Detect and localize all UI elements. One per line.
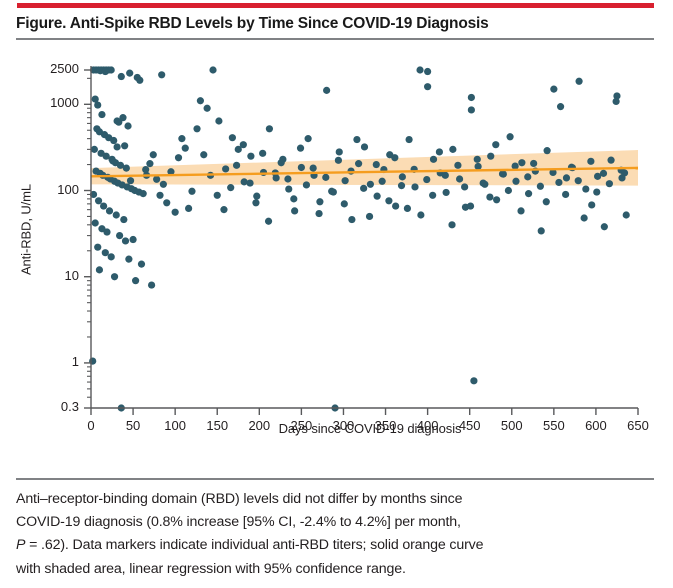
data-point	[454, 162, 461, 169]
data-point	[557, 103, 564, 110]
caption-line-4: with shaded area, linear regression with…	[16, 561, 406, 577]
data-point	[138, 261, 145, 268]
data-point	[123, 164, 130, 171]
data-point	[606, 180, 613, 187]
data-point	[109, 157, 116, 164]
data-point	[475, 163, 482, 170]
data-point	[100, 202, 107, 209]
data-point	[543, 198, 550, 205]
data-point	[430, 156, 437, 163]
data-point	[575, 177, 582, 184]
data-point	[140, 190, 147, 197]
data-point	[392, 202, 399, 209]
data-point	[246, 179, 253, 186]
data-point	[443, 189, 450, 196]
data-point	[467, 202, 474, 209]
data-point	[148, 281, 155, 288]
data-point	[517, 207, 524, 214]
data-point	[474, 156, 481, 163]
title-divider	[16, 38, 654, 40]
data-point	[499, 170, 506, 177]
data-point	[291, 207, 298, 214]
data-point	[468, 94, 475, 101]
data-point	[132, 277, 139, 284]
data-point	[150, 151, 157, 158]
data-point	[385, 197, 392, 204]
data-point	[623, 211, 630, 218]
data-point	[126, 70, 133, 77]
data-point	[91, 146, 98, 153]
data-point	[113, 211, 120, 218]
data-point	[122, 237, 129, 244]
data-point	[110, 137, 117, 144]
accent-rule	[17, 3, 654, 8]
data-point	[285, 185, 292, 192]
x-tick-label: 650	[613, 418, 663, 433]
y-tick-label: 1	[7, 354, 79, 369]
data-point	[456, 175, 463, 182]
data-point	[562, 191, 569, 198]
data-point	[322, 174, 329, 181]
data-point	[142, 166, 149, 173]
data-point	[98, 111, 105, 118]
data-point	[613, 98, 620, 105]
data-point	[411, 183, 418, 190]
data-point	[197, 97, 204, 104]
data-point	[593, 188, 600, 195]
data-point	[182, 145, 189, 152]
data-point	[259, 150, 266, 157]
data-point	[113, 143, 120, 150]
data-point	[406, 136, 413, 143]
data-point	[530, 160, 537, 167]
data-point	[160, 181, 167, 188]
data-point	[265, 218, 272, 225]
data-point	[200, 151, 207, 158]
y-tick-label: 1000	[7, 95, 79, 110]
y-tick-label: 2500	[7, 61, 79, 76]
y-tick-label: 100	[7, 182, 79, 197]
data-point	[298, 164, 305, 171]
data-point	[373, 161, 380, 168]
data-point	[227, 184, 234, 191]
caption-line-3: = .62). Data markers indicate individual…	[25, 537, 483, 553]
caption-p-value-italic: P	[16, 537, 25, 553]
data-point	[120, 216, 127, 223]
data-point	[492, 141, 499, 148]
data-point	[442, 172, 449, 179]
data-point	[290, 195, 297, 202]
data-point	[209, 66, 216, 73]
data-point	[399, 173, 406, 180]
data-point	[379, 178, 386, 185]
data-point	[156, 192, 163, 199]
data-point	[600, 170, 607, 177]
caption-line-2: COVID-19 diagnosis (0.8% increase [95% C…	[16, 514, 461, 530]
data-point	[220, 206, 227, 213]
data-point	[424, 68, 431, 75]
data-point	[94, 101, 101, 108]
data-point	[252, 199, 259, 206]
data-point	[328, 188, 335, 195]
data-point	[129, 236, 136, 243]
data-point	[178, 135, 185, 142]
data-point	[404, 205, 411, 212]
data-point	[461, 183, 468, 190]
data-point	[106, 207, 113, 214]
plot-svg	[0, 44, 673, 472]
data-point	[355, 160, 362, 167]
data-point	[436, 148, 443, 155]
data-point	[153, 176, 160, 183]
data-point	[316, 198, 323, 205]
data-point	[607, 157, 614, 164]
data-point	[336, 148, 343, 155]
data-point	[102, 249, 109, 256]
figure-title: Figure. Anti-Spike RBD Levels by Time Si…	[16, 15, 656, 33]
data-point	[588, 201, 595, 208]
data-point	[506, 133, 513, 140]
data-point	[487, 153, 494, 160]
data-point	[353, 136, 360, 143]
data-point	[108, 253, 115, 260]
figure-caption: Anti–receptor-binding domain (RBD) level…	[16, 488, 662, 581]
data-point	[124, 122, 131, 129]
data-point	[374, 193, 381, 200]
data-point	[284, 175, 291, 182]
data-point	[563, 174, 570, 181]
data-point	[127, 177, 134, 184]
data-point	[115, 119, 122, 126]
data-point	[342, 177, 349, 184]
data-point	[348, 216, 355, 223]
data-point	[367, 181, 374, 188]
data-point	[555, 179, 562, 186]
data-point	[125, 256, 132, 263]
data-point	[582, 185, 589, 192]
data-point	[204, 105, 211, 112]
data-point	[538, 227, 545, 234]
figure-panel: Figure. Anti-Spike RBD Levels by Time Si…	[0, 0, 673, 588]
data-point	[118, 73, 125, 80]
data-point	[486, 193, 493, 200]
data-point	[111, 273, 118, 280]
data-point	[468, 106, 475, 113]
data-point	[417, 211, 424, 218]
data-point	[537, 183, 544, 190]
caption-line-1: Anti–receptor-binding domain (RBD) level…	[16, 491, 462, 507]
data-point	[121, 142, 128, 149]
data-point	[163, 199, 170, 206]
data-point	[102, 68, 109, 75]
data-point	[95, 197, 102, 204]
data-point	[398, 182, 405, 189]
data-point	[233, 162, 240, 169]
data-point	[229, 134, 236, 141]
y-tick-label: 0.3	[7, 399, 79, 414]
data-point	[512, 178, 519, 185]
data-point	[449, 146, 456, 153]
y-tick-label: 10	[7, 268, 79, 283]
data-point	[310, 164, 317, 171]
data-point	[581, 214, 588, 221]
scatter-chart: Anti-RBD, U/mL Days since COVID-19 diagn…	[0, 44, 673, 472]
data-point	[335, 157, 342, 164]
data-point	[136, 77, 143, 84]
data-point	[361, 143, 368, 150]
data-point	[94, 244, 101, 251]
data-point	[96, 266, 103, 273]
data-point	[341, 200, 348, 207]
data-point	[215, 117, 222, 124]
data-point	[470, 377, 477, 384]
data-point	[429, 192, 436, 199]
data-point	[424, 83, 431, 90]
data-point	[480, 179, 487, 186]
data-point	[518, 159, 525, 166]
data-point	[416, 66, 423, 73]
data-point	[116, 232, 123, 239]
data-point	[315, 210, 322, 217]
scatter-points	[89, 66, 630, 411]
data-point	[222, 165, 229, 172]
data-point	[175, 154, 182, 161]
data-point	[158, 71, 165, 78]
data-point	[618, 174, 625, 181]
data-point	[493, 196, 500, 203]
data-point	[601, 223, 608, 230]
data-point	[587, 158, 594, 165]
data-point	[266, 125, 273, 132]
confidence-band	[91, 150, 638, 186]
data-point	[423, 176, 430, 183]
data-point	[172, 209, 179, 216]
data-point	[366, 213, 373, 220]
data-point	[278, 159, 285, 166]
data-point	[505, 187, 512, 194]
data-point	[303, 181, 310, 188]
data-point	[193, 125, 200, 132]
data-point	[146, 160, 153, 167]
data-point	[575, 78, 582, 85]
data-point	[253, 193, 260, 200]
data-point	[240, 141, 247, 148]
data-point	[188, 188, 195, 195]
data-point	[185, 205, 192, 212]
data-point	[92, 219, 99, 226]
data-point	[297, 145, 304, 152]
data-point	[525, 190, 532, 197]
data-point	[323, 87, 330, 94]
caption-divider	[16, 478, 654, 480]
data-point	[524, 173, 531, 180]
data-point	[391, 154, 398, 161]
data-point	[247, 153, 254, 160]
data-point	[544, 147, 551, 154]
data-point	[103, 228, 110, 235]
data-point	[305, 135, 312, 142]
data-point	[448, 221, 455, 228]
data-point	[214, 192, 221, 199]
data-point	[360, 185, 367, 192]
data-point	[550, 86, 557, 93]
